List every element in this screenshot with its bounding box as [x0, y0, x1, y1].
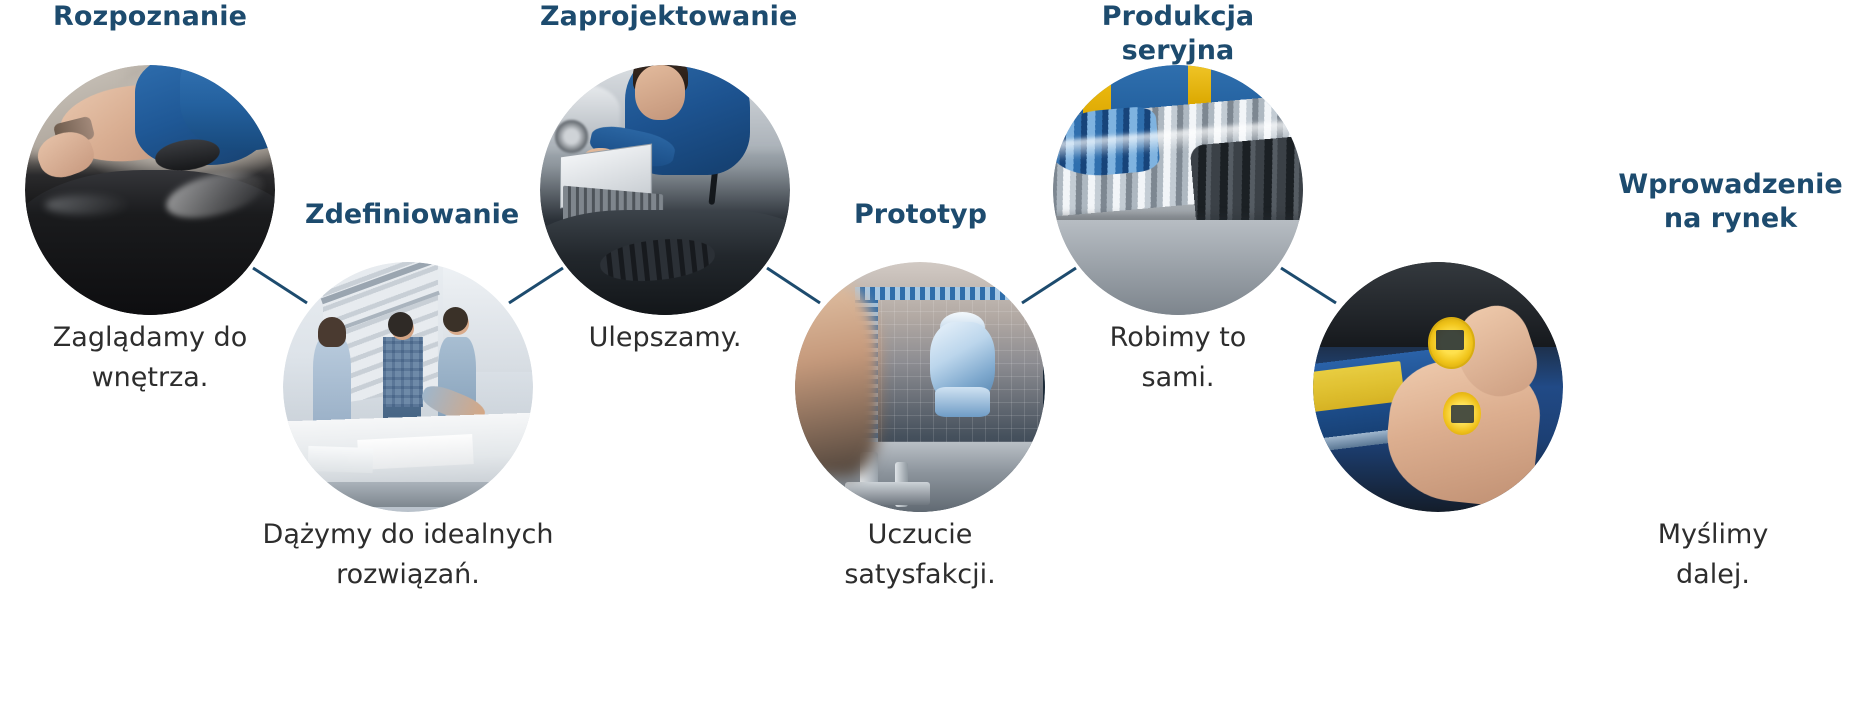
step-2-heading: Zdefiniowanie — [305, 198, 510, 232]
step-3-caption: Ulepszamy. — [540, 318, 790, 358]
chrome-shock-absorbers-production-line-photo — [1053, 65, 1303, 315]
process-infographic: Rozpoznanie Zaglądamy do wnętrza. Zdefin… — [0, 0, 1869, 705]
step-5-heading: Produkcja seryjna — [1048, 0, 1308, 68]
step-5-caption: Robimy to sami. — [1053, 318, 1303, 398]
technician-with-laptop-on-engine-photo — [540, 65, 790, 315]
step-3-heading: Zaprojektowanie — [540, 0, 790, 34]
step-6-caption: Myślimy dalej. — [1588, 515, 1838, 595]
step-2-caption: Dążymy do idealnych rozwiązań. — [258, 515, 558, 595]
step-6-node — [1313, 262, 1563, 512]
step-4-heading: Prototyp — [828, 198, 1013, 232]
team-reviewing-plans-at-table-photo — [283, 262, 533, 512]
hand-applying-hd-sticker-on-box-photo — [1313, 262, 1563, 512]
step-3-node — [540, 65, 790, 315]
step-1-heading: Rozpoznanie — [25, 0, 275, 34]
step-1-caption: Zaglądamy do wnętrza. — [15, 318, 285, 398]
step-2-node — [283, 262, 533, 512]
step-5-node — [1053, 65, 1303, 315]
step-1-node — [25, 65, 275, 315]
step-6-heading: Wprowadzenie na rynek — [1608, 168, 1853, 236]
cad-workstation-3d-part-photo — [795, 262, 1045, 512]
step-4-caption: Uczucie satysfakcji. — [795, 515, 1045, 595]
step-4-node — [795, 262, 1045, 512]
mechanic-inspecting-engine-bay-photo — [25, 65, 275, 315]
